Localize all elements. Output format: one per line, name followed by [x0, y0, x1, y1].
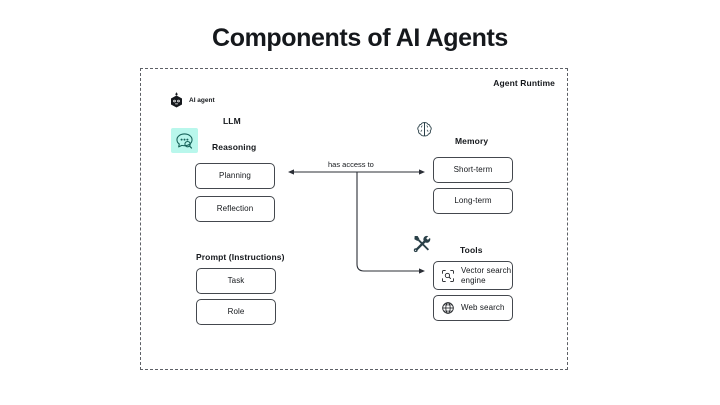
agent-runtime-label: Agent Runtime: [493, 78, 555, 88]
edge-label-has-access-to: has access to: [328, 160, 374, 169]
diagram-canvas: Components of AI Agents Agent Runtime AI…: [0, 0, 720, 405]
node-short-term-memory[interactable]: Short-term: [433, 157, 513, 183]
prompt-label: Prompt (Instructions): [196, 252, 285, 262]
node-vector-search-engine[interactable]: Vector search engine: [433, 261, 513, 290]
node-task[interactable]: Task: [196, 268, 276, 294]
reasoning-label: Reasoning: [212, 142, 256, 152]
node-reflection-label: Reflection: [217, 204, 254, 214]
memory-label: Memory: [455, 136, 488, 146]
node-vector-search-engine-label: Vector search engine: [461, 266, 512, 286]
node-planning-label: Planning: [219, 171, 251, 181]
llm-label: LLM: [223, 116, 241, 126]
node-long-term-memory[interactable]: Long-term: [433, 188, 513, 214]
page-title: Components of AI Agents: [0, 24, 720, 53]
node-role-label: Role: [228, 307, 245, 317]
chat-bubble-search-icon: [171, 128, 198, 153]
node-web-search-label: Web search: [461, 303, 505, 313]
hammer-wrench-icon: [410, 232, 432, 254]
ai-agent-node: AI agent: [169, 92, 215, 109]
robot-icon: [169, 92, 184, 109]
node-planning[interactable]: Planning: [195, 163, 275, 189]
brain-icon: [414, 119, 434, 139]
node-long-term-memory-label: Long-term: [454, 196, 491, 206]
node-task-label: Task: [228, 276, 245, 286]
tools-label: Tools: [460, 245, 483, 255]
node-short-term-memory-label: Short-term: [454, 165, 493, 175]
ai-agent-label: AI agent: [189, 97, 215, 104]
globe-icon: [441, 301, 455, 315]
node-role[interactable]: Role: [196, 299, 276, 325]
scan-search-icon: [441, 269, 455, 283]
node-reflection[interactable]: Reflection: [195, 196, 275, 222]
node-web-search[interactable]: Web search: [433, 295, 513, 321]
